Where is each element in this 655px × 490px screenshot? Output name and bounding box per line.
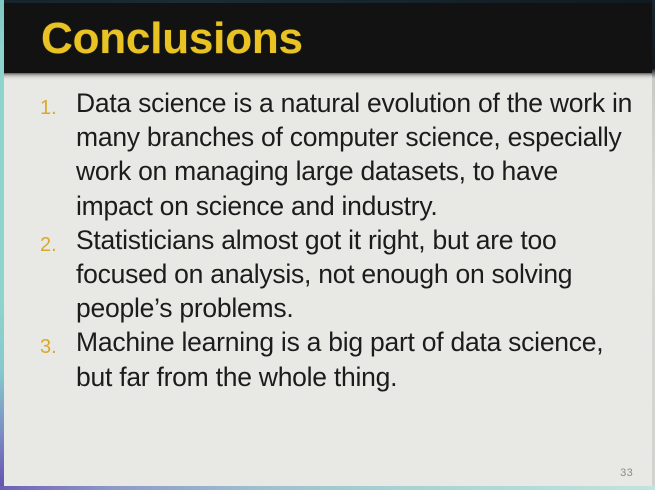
list-item-text: Machine learning is a big part of data s… bbox=[76, 325, 636, 393]
presentation-slide: Conclusions 1. Data science is a natural… bbox=[0, 0, 655, 490]
list-item: 1. Data science is a natural evolution o… bbox=[0, 86, 655, 223]
slide-body-content: 1. Data science is a natural evolution o… bbox=[0, 86, 655, 394]
header-top-accent-line bbox=[0, 0, 655, 3]
bottom-accent-border bbox=[0, 486, 655, 490]
list-item-number: 1. bbox=[40, 86, 76, 125]
page-number: 33 bbox=[620, 467, 633, 479]
list-item-text: Statisticians almost got it right, but a… bbox=[76, 223, 636, 326]
list-item: 2. Statisticians almost got it right, bu… bbox=[0, 223, 655, 326]
list-item-number: 2. bbox=[40, 223, 76, 262]
list-item: 3. Machine learning is a big part of dat… bbox=[0, 325, 655, 393]
header-separator-line bbox=[0, 73, 655, 80]
slide-header-bar: Conclusions bbox=[0, 0, 655, 73]
left-accent-border bbox=[0, 0, 4, 490]
page-title: Conclusions bbox=[41, 13, 303, 65]
list-item-text: Data science is a natural evolution of t… bbox=[76, 86, 636, 223]
list-item-number: 3. bbox=[40, 325, 76, 364]
